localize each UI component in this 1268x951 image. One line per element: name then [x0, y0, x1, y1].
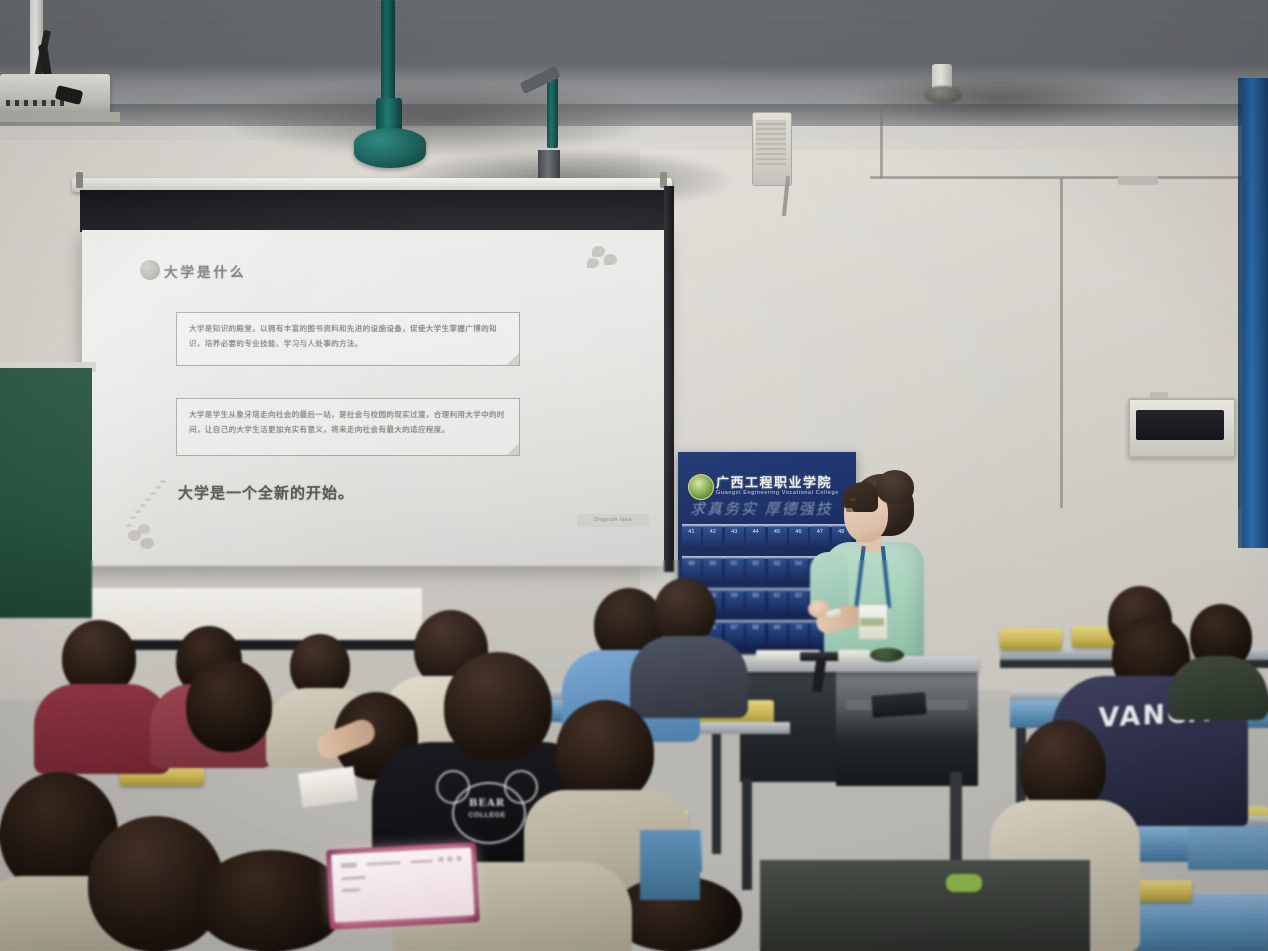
presenter-hair-bun: [876, 470, 914, 504]
pocket-slot-number: 42: [703, 529, 722, 535]
pocket-slot-number: 43: [725, 529, 744, 535]
slide-callout-2-text: 大学是学生从象牙塔走向社会的最后一站，是社会与校园的现实过渡，合理利用大学中的时…: [189, 408, 507, 438]
pocket-slot[interactable]: 50: [703, 558, 722, 582]
student-body: [630, 636, 748, 718]
screen-header-band: [80, 190, 666, 232]
slide-deco-petal-3: [587, 258, 599, 268]
desk-edge-center-2: [690, 722, 790, 734]
ceiling-fan-1-housing: [376, 98, 402, 132]
chair-side-panel-2: [1188, 826, 1268, 870]
student-laptop[interactable]: [326, 842, 480, 934]
door-closer: [1118, 176, 1158, 185]
pocket-slot-number: 49: [682, 561, 701, 567]
blue-pillar: [1242, 78, 1268, 548]
pocket-slot[interactable]: 45: [768, 526, 787, 550]
pocket-slot-number: 68: [746, 625, 765, 631]
floor: [760, 860, 1090, 951]
slide-title: 大学是什么: [164, 261, 247, 281]
ceiling-fan-1-rod: [381, 0, 395, 112]
whiteboard-tray: [92, 640, 440, 650]
desk-leg-center: [712, 734, 721, 854]
panel-display-window: [1136, 410, 1224, 440]
laptop-screen[interactable]: [331, 847, 474, 922]
pocket-slot-number: 44: [746, 529, 765, 535]
pocket-slot[interactable]: 51: [725, 558, 744, 582]
slide-deco-petal-1: [592, 246, 605, 257]
chair-side-panel-1: [640, 830, 700, 900]
student-head: [556, 700, 654, 804]
projector-shelf: [0, 112, 120, 122]
student-head: [444, 652, 552, 762]
pocket-slot[interactable]: 41: [682, 526, 701, 550]
student-head: [186, 660, 272, 752]
slide-deco-petal-2: [604, 254, 617, 265]
projector-ports: [6, 100, 64, 106]
student-head: [196, 850, 346, 951]
slide-title-bullet-icon: [140, 260, 160, 280]
pocket-slot-number: 52: [746, 561, 765, 567]
pocket-slot[interactable]: 52: [746, 558, 765, 582]
pocket-slot-number: 41: [682, 529, 701, 535]
paper-sheet: [298, 766, 358, 807]
speaker-grille: [756, 120, 786, 168]
student-body: [1168, 656, 1268, 720]
pocket-slot-number: 50: [703, 561, 722, 567]
pocket-slot[interactable]: 42: [703, 526, 722, 550]
student-head: [654, 578, 716, 644]
ceiling-fan-3-motor: [924, 86, 962, 104]
slide-bullet-text: 大学是一个全新的开始。: [178, 482, 354, 503]
lectern-device[interactable]: [838, 650, 870, 661]
pocket-slot[interactable]: 68: [746, 622, 765, 646]
pocket-slot-number: 59: [725, 593, 744, 599]
pocket-slot-number: 69: [768, 625, 787, 631]
presenter-badge-strip: [860, 618, 884, 626]
pocket-slot[interactable]: 60: [746, 590, 765, 614]
classroom-photo: 大学是什么 大学是知识的殿堂，以拥有丰富的图书资料和先进的设施设备，促使大学生掌…: [0, 0, 1268, 951]
presenter-eye: [850, 498, 856, 501]
slide-callout-2: 大学是学生从象牙塔走向社会的最后一站，是社会与校园的现实过渡，合理利用大学中的时…: [176, 398, 520, 456]
lectern-leg-left: [742, 778, 752, 890]
pocket-slot[interactable]: 44: [746, 526, 765, 550]
pocket-slot[interactable]: 43: [725, 526, 744, 550]
lectern-bag: [870, 648, 904, 662]
ceiling-fan-1-motor: [354, 128, 426, 168]
screen-bracket-left: [76, 172, 83, 188]
wall-seam: [870, 176, 1268, 179]
ceiling-fan-2-rod: [547, 78, 558, 148]
whiteboard: [92, 588, 422, 646]
door-seam-left: [1060, 178, 1063, 508]
college-emblem-icon: [688, 474, 714, 500]
chair-back-1: [1000, 628, 1062, 650]
pocket-slot-number: 60: [746, 593, 765, 599]
pocket-slot-number: 53: [768, 561, 787, 567]
green-chalkboard: [0, 368, 92, 618]
bear-logo-icon: BEAR COLLEGE: [436, 770, 538, 844]
pocket-slot[interactable]: 69: [768, 622, 787, 646]
bear-shirt-text: BEAR: [462, 798, 512, 809]
slide-callout-1: 大学是知识的殿堂，以拥有丰富的图书资料和先进的设施设备，促使大学生掌握广博的知识…: [176, 312, 520, 366]
lectern-shelf-item: [871, 692, 926, 718]
pocket-slot-number: 51: [725, 561, 744, 567]
pocket-slot[interactable]: 61: [768, 590, 787, 614]
bear-shirt-subtext: COLLEGE: [458, 812, 516, 819]
presenter-mouth: [846, 508, 853, 512]
floor-item-green: [946, 874, 982, 892]
slide-callout-1-text: 大学是知识的殿堂，以拥有丰富的图书资料和先进的设施设备，促使大学生掌握广博的知识…: [189, 322, 507, 352]
pocket-slot-number: 45: [768, 529, 787, 535]
wall-seam-vertical: [880, 104, 883, 178]
lectern-side-cabinet: [836, 668, 978, 786]
presentation-slide: 大学是什么 大学是知识的殿堂，以拥有丰富的图书资料和先进的设施设备，促使大学生掌…: [82, 230, 666, 566]
pocket-slot-number: 67: [725, 625, 744, 631]
panel-latch[interactable]: [1150, 392, 1168, 398]
slide-leaf-sprig: [126, 462, 186, 550]
ceiling-fan-1-blades: [228, 80, 648, 156]
pocket-slot[interactable]: 59: [725, 590, 744, 614]
ceiling-fan-3-blades: [860, 72, 1140, 126]
pocket-slot-number: 61: [768, 593, 787, 599]
pocket-slot[interactable]: 53: [768, 558, 787, 582]
slide-watermark: Diagram Idea: [577, 514, 649, 527]
